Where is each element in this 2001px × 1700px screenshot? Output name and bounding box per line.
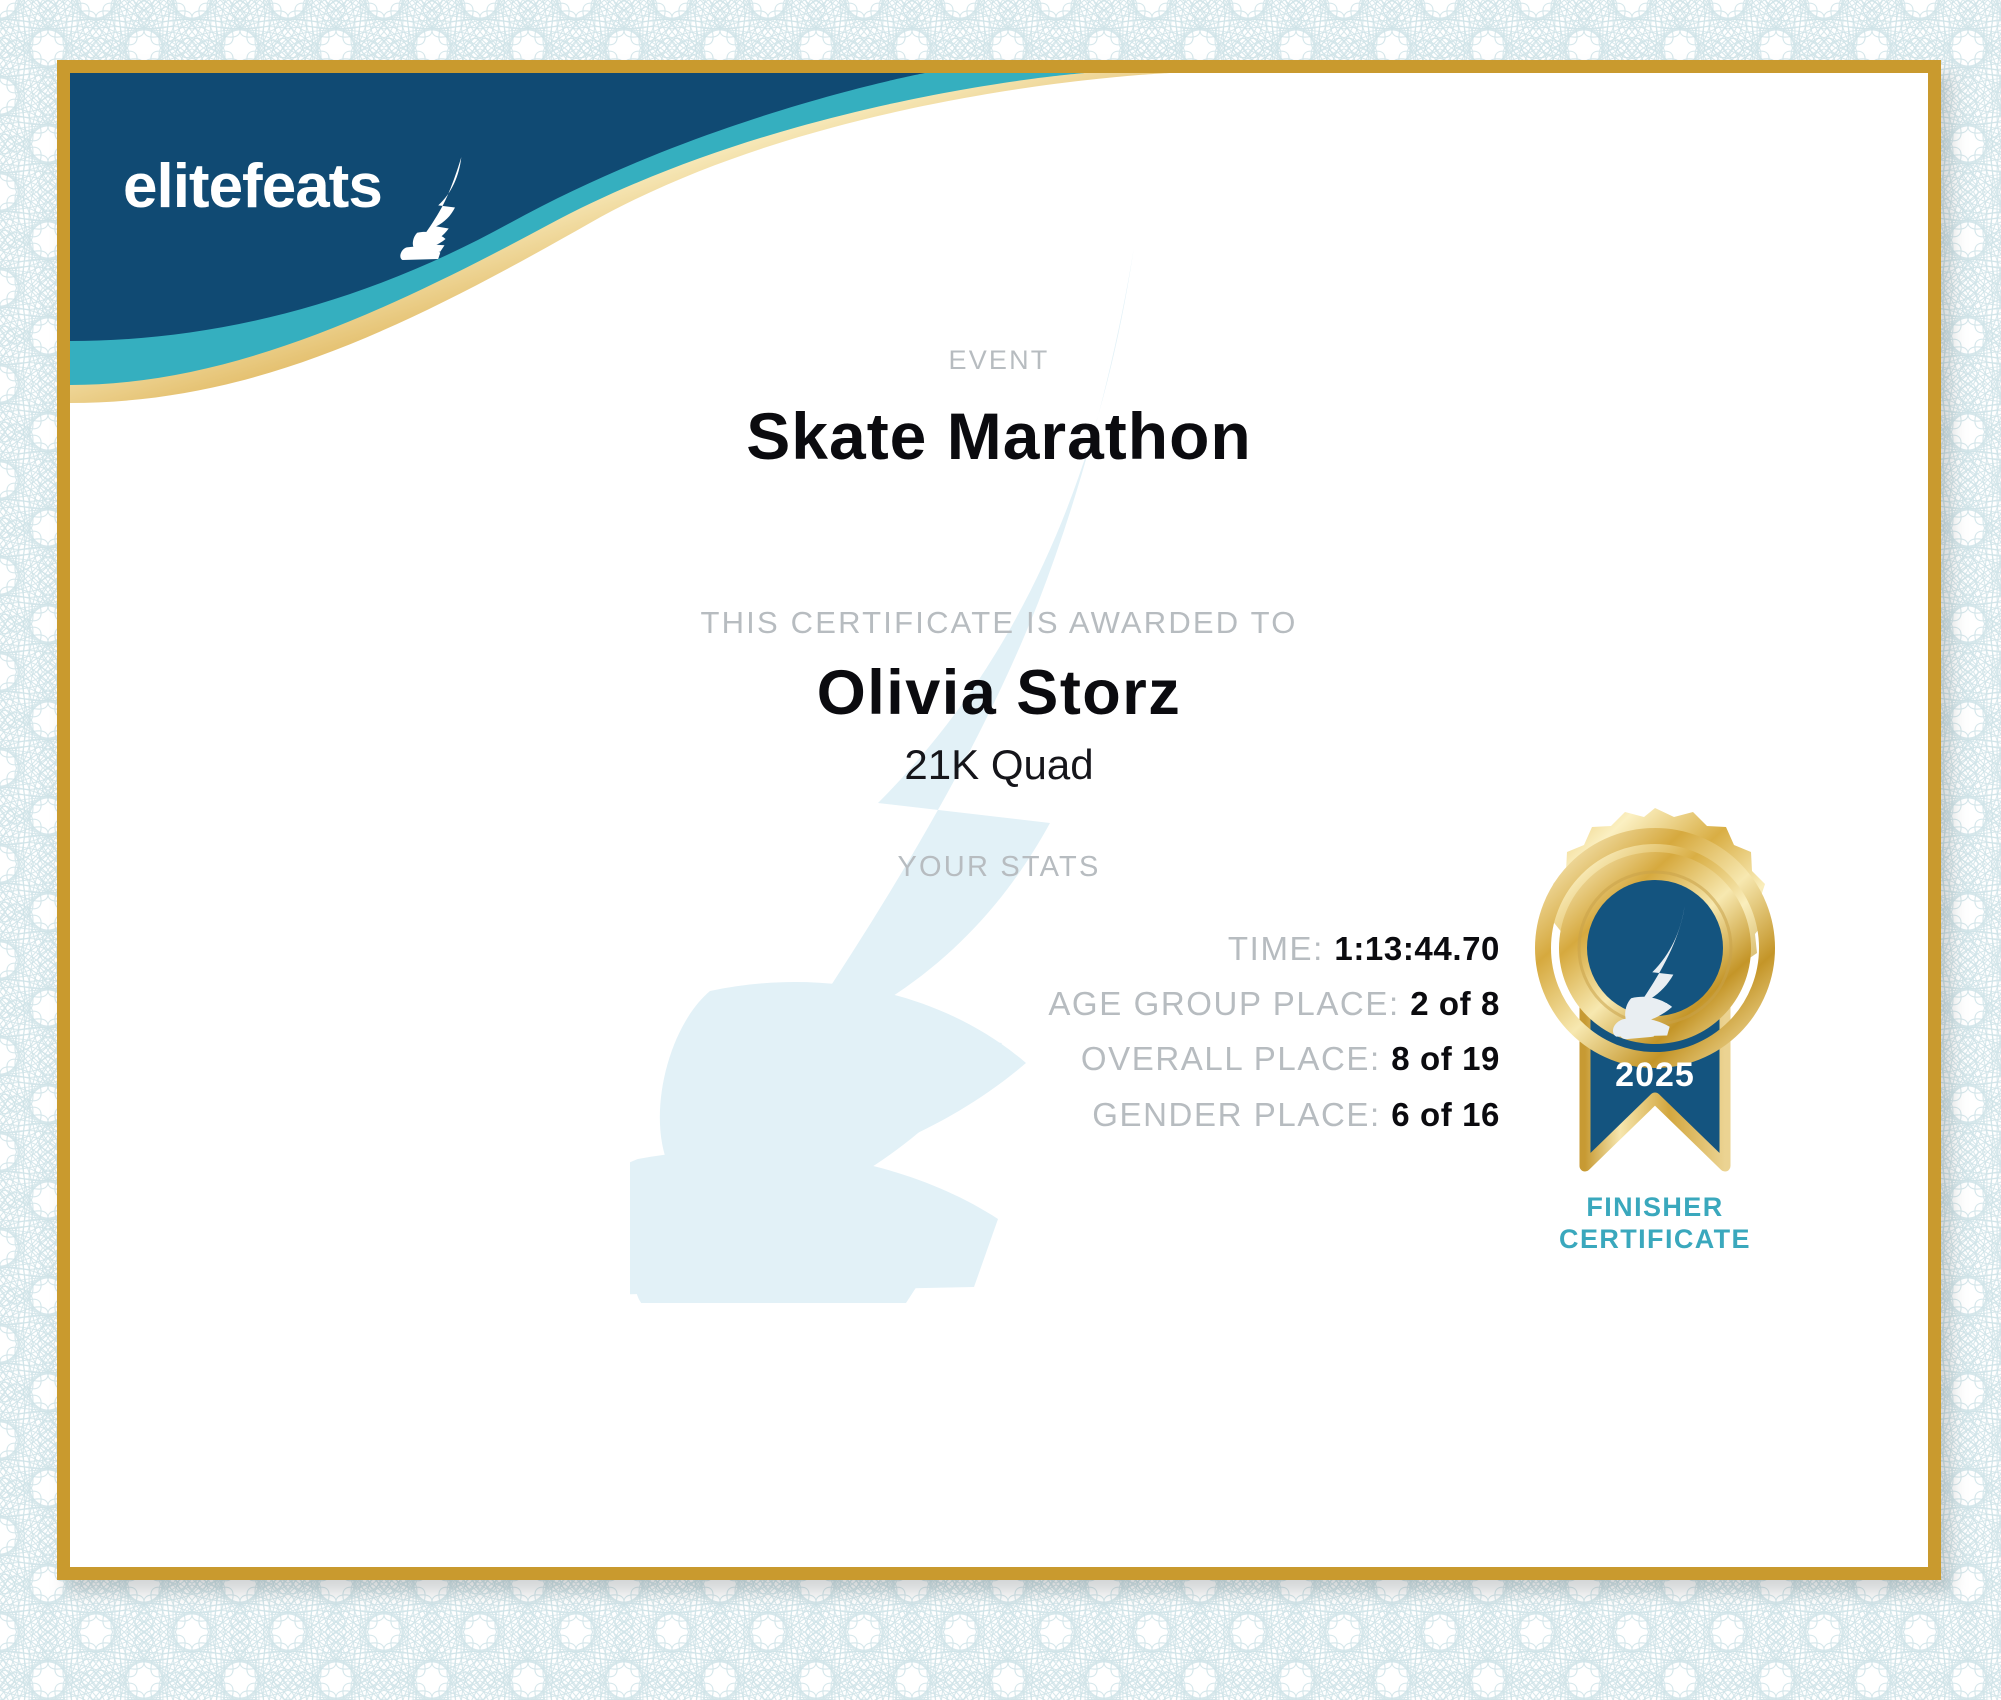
stat-row-overall-place: OVERALL PLACE: 8 of 19: [70, 1038, 1500, 1080]
stat-value: 2 of 8: [1410, 985, 1500, 1022]
stat-row-age-group-place: AGE GROUP PLACE: 2 of 8: [70, 983, 1500, 1025]
stat-value: 6 of 16: [1391, 1096, 1500, 1133]
awarded-to-label: THIS CERTIFICATE IS AWARDED TO: [70, 605, 1928, 641]
badge-caption-line1: FINISHER: [1510, 1192, 1800, 1224]
event-label: EVENT: [70, 345, 1928, 376]
stat-row-time: TIME: 1:13:44.70: [70, 928, 1500, 970]
badge-caption-line2: CERTIFICATE: [1510, 1224, 1800, 1256]
stat-key: TIME:: [1228, 930, 1324, 967]
medal-ribbon-icon: 2025: [1525, 798, 1785, 1198]
recipient-division: 21K Quad: [70, 741, 1928, 789]
badge-caption: FINISHER CERTIFICATE: [1510, 1192, 1800, 1256]
certificate-page: elitefeats EVENT: [0, 0, 2001, 1700]
stat-key: GENDER PLACE:: [1092, 1096, 1381, 1133]
stats-list: TIME: 1:13:44.70 AGE GROUP PLACE: 2 of 8…: [70, 928, 1500, 1149]
badge-year: 2025: [1615, 1056, 1695, 1094]
certificate-content: EVENT Skate Marathon THIS CERTIFICATE IS…: [70, 73, 1928, 1567]
stat-key: AGE GROUP PLACE:: [1048, 985, 1399, 1022]
stat-value: 8 of 19: [1391, 1040, 1500, 1077]
stat-key: OVERALL PLACE:: [1081, 1040, 1381, 1077]
recipient-name: Olivia Storz: [70, 657, 1928, 729]
finisher-badge: 2025 FINISHER CERTIFICATE: [1510, 798, 1800, 1256]
certificate-frame: elitefeats EVENT: [57, 60, 1941, 1580]
stat-row-gender-place: GENDER PLACE: 6 of 16: [70, 1094, 1500, 1136]
certificate-inner: elitefeats EVENT: [70, 73, 1928, 1567]
event-name: Skate Marathon: [70, 398, 1928, 474]
stat-value: 1:13:44.70: [1334, 930, 1500, 967]
